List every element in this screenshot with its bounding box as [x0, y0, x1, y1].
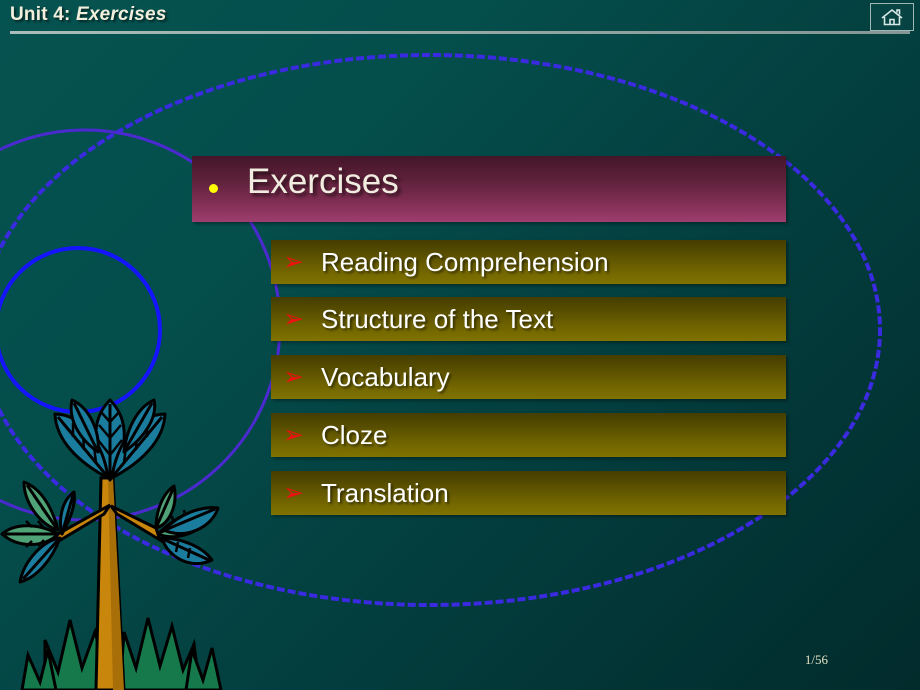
arrow-bullet-icon: ➢ — [283, 420, 313, 450]
home-button[interactable] — [870, 3, 914, 31]
title-bullet-icon — [209, 184, 218, 193]
arrow-bullet-icon: ➢ — [283, 362, 313, 392]
list-item-vocabulary[interactable]: ➢ Vocabulary — [271, 355, 786, 399]
header-topic-label: Exercises — [76, 4, 167, 25]
list-item-label: Vocabulary — [321, 358, 450, 396]
leaf-cluster-left — [2, 482, 74, 582]
slide-canvas: Unit 4: Exercises Exercises ➢ Reading Co… — [0, 0, 920, 690]
home-icon — [879, 7, 905, 27]
list-item-label: Cloze — [321, 416, 387, 454]
arrow-bullet-icon: ➢ — [283, 304, 313, 334]
arrow-bullet-icon: ➢ — [283, 478, 313, 508]
page-number: 1/56 — [805, 652, 828, 668]
list-item-label: Structure of the Text — [321, 300, 553, 338]
grass-clump — [22, 618, 221, 690]
list-item-label: Reading Comprehension — [321, 243, 609, 281]
list-item-label: Translation — [321, 474, 449, 512]
leaf-cluster-right — [156, 486, 218, 564]
title-plate-label: Exercises — [247, 162, 399, 202]
title-plate[interactable]: Exercises — [192, 156, 786, 222]
slide-header: Unit 4: Exercises — [0, 0, 920, 42]
header-title: Unit 4: Exercises — [10, 4, 167, 26]
header-unit-label: Unit 4: — [10, 4, 76, 25]
leaf-cluster-top — [55, 400, 165, 480]
header-divider — [10, 31, 910, 34]
list-item-structure-of-the-text[interactable]: ➢ Structure of the Text — [271, 297, 786, 341]
arrow-bullet-icon: ➢ — [283, 247, 313, 277]
list-item-cloze[interactable]: ➢ Cloze — [271, 413, 786, 457]
tree-trunk — [52, 478, 160, 690]
decoration-layer — [0, 0, 920, 690]
list-item-translation[interactable]: ➢ Translation — [271, 471, 786, 515]
tree-clipart — [2, 400, 221, 690]
circle-outline-inner — [0, 248, 160, 412]
list-item-reading-comprehension[interactable]: ➢ Reading Comprehension — [271, 240, 786, 284]
